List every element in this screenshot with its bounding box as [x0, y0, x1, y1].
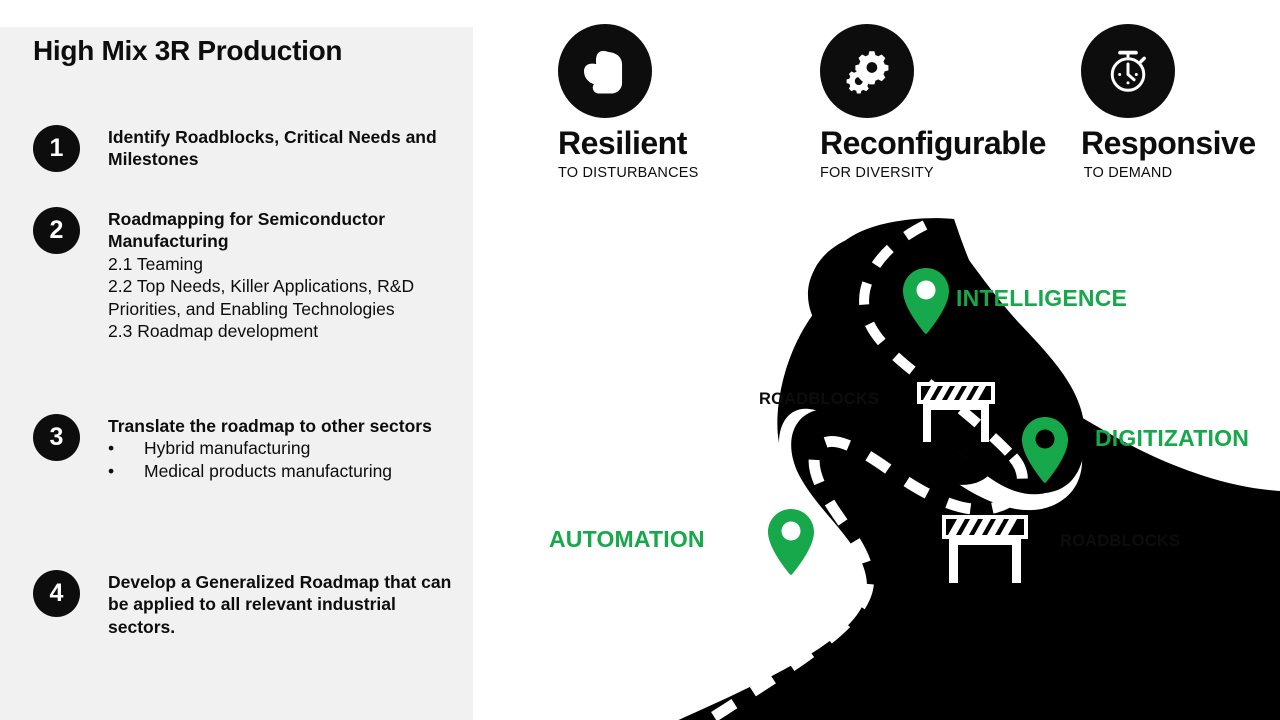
bullet-dot-icon: • [108, 437, 144, 459]
stopwatch-icon [1100, 43, 1156, 99]
slide-canvas: High Mix 3R Production 1 Identify Roadbl… [0, 0, 1280, 720]
roadmap-illustration: INTELLIGENCE DIGITIZATION AUTOMATION ROA… [473, 195, 1280, 720]
pillar-icon-badge [1081, 24, 1175, 118]
pillar-subtitle: TO DEMAND [1081, 165, 1175, 181]
pillar-subtitle: TO DISTURBANCES [558, 165, 652, 181]
pillar-icon-badge [820, 24, 914, 118]
pin-label-digitization: DIGITIZATION [1095, 425, 1249, 452]
step-subline: 2.3 Roadmap development [108, 320, 456, 342]
bullet-label: Medical products manufacturing [144, 460, 456, 482]
pillar-title: Reconfigurable [820, 127, 914, 161]
list-item: • Hybrid manufacturing [108, 437, 456, 459]
road-final [473, 218, 1280, 720]
step-heading: Identify Roadblocks, Critical Needs and … [108, 126, 456, 171]
sidebar-panel: High Mix 3R Production 1 Identify Roadbl… [0, 27, 473, 720]
roadblock-label-upper: ROADBLOCKS [759, 390, 879, 409]
bullet-dot-icon: • [108, 460, 144, 482]
pillar-title: Responsive [1081, 127, 1175, 161]
pin-label-automation: AUTOMATION [549, 526, 705, 553]
pin-label-intelligence: INTELLIGENCE [956, 285, 1127, 312]
gears-icon [839, 43, 895, 99]
bullet-label: Hybrid manufacturing [144, 437, 456, 459]
step-heading: Roadmapping for Semiconductor Manufactur… [108, 208, 456, 253]
pillar-card-resilient[interactable]: Resilient TO DISTURBANCES [558, 24, 652, 181]
pillar-card-responsive[interactable]: Responsive TO DEMAND [1081, 24, 1175, 181]
step-subline: 2.2 Top Needs, Killer Applications, R&D … [108, 275, 456, 320]
step-number-badge: 4 [33, 570, 80, 617]
step-number-badge: 3 [33, 414, 80, 461]
pillar-title: Resilient [558, 127, 652, 161]
list-item: • Medical products manufacturing [108, 460, 456, 482]
step-number-badge: 1 [33, 125, 80, 172]
map-pin-icon[interactable] [768, 509, 814, 575]
step-heading: Translate the roadmap to other sectors [108, 415, 456, 437]
road-graphic [473, 195, 1280, 720]
flexed-biceps-icon [577, 43, 633, 99]
step-number-badge: 2 [33, 207, 80, 254]
page-title: High Mix 3R Production [33, 35, 342, 67]
roadblock-label-lower: ROADBLOCKS [1060, 532, 1180, 551]
pillar-card-reconfigurable[interactable]: Reconfigurable FOR DIVERSITY [820, 24, 914, 181]
pillar-subtitle: FOR DIVERSITY [820, 165, 914, 181]
pillar-icon-badge [558, 24, 652, 118]
step-heading: Develop a Generalized Roadmap that can b… [108, 571, 456, 638]
step-subline: 2.1 Teaming [108, 253, 456, 275]
